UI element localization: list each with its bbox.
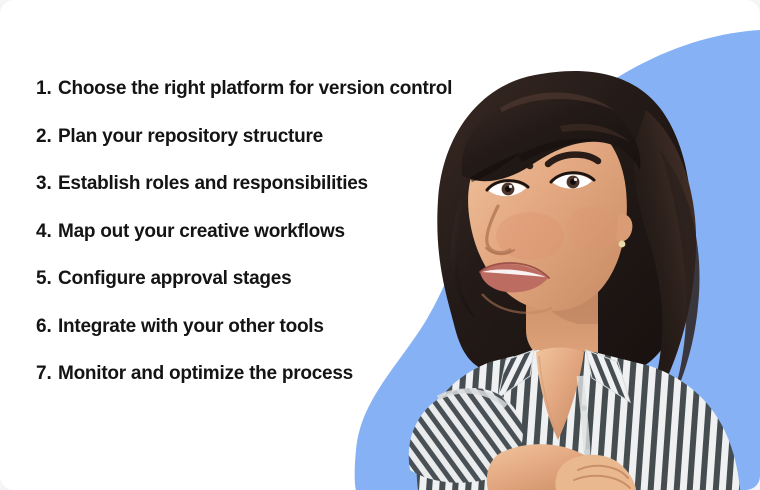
- fringe-wisp-2: [518, 139, 598, 162]
- list-item-label: Map out your creative workflows: [58, 221, 345, 243]
- list-item-number: 1.: [36, 78, 58, 100]
- neck: [526, 262, 598, 366]
- list-item[interactable]: 2. Plan your repository structure: [36, 126, 466, 174]
- shirt-placket: [580, 376, 588, 490]
- list-item-label: Configure approval stages: [58, 268, 291, 290]
- eye-right-pupil: [570, 179, 576, 185]
- hair-top-highlight: [500, 92, 614, 112]
- neck-shadow: [528, 262, 598, 324]
- list-item-label: Choose the right platform for version co…: [58, 78, 452, 100]
- finger-line-2: [574, 476, 630, 488]
- finger-line-1: [578, 466, 628, 478]
- eye-right-iris: [567, 176, 580, 189]
- list-item-number: 5.: [36, 268, 58, 290]
- eyebrow-right: [548, 155, 598, 164]
- eye-left-iris: [502, 183, 515, 196]
- eyelash-left: [487, 181, 528, 190]
- list-item-label: Integrate with your other tools: [58, 316, 324, 338]
- fringe-wisp-1: [470, 152, 522, 182]
- eyebrow-left: [482, 161, 530, 172]
- eye-left-white: [488, 182, 526, 196]
- face: [468, 118, 627, 311]
- list-item-number: 6.: [36, 316, 58, 338]
- list-item[interactable]: 1. Choose the right platform for version…: [36, 78, 466, 126]
- shirt-button-1: [581, 405, 587, 411]
- hand-upper: [555, 455, 636, 490]
- earring: [619, 241, 626, 248]
- nose: [487, 206, 510, 253]
- eye-left-catchlight: [509, 185, 512, 188]
- hair-back: [437, 71, 691, 372]
- fringe-highlight: [560, 124, 630, 142]
- list-item[interactable]: 6. Integrate with your other tools: [36, 316, 466, 364]
- list-item[interactable]: 4. Map out your creative workflows: [36, 221, 466, 269]
- cheek-blush-2: [566, 206, 618, 250]
- collar-left: [498, 350, 534, 398]
- ear: [616, 214, 632, 242]
- list-item-number: 3.: [36, 173, 58, 195]
- chest-shadow: [538, 356, 560, 442]
- chest-skin: [536, 348, 584, 441]
- list-item-number: 2.: [36, 126, 58, 148]
- chin-shadow: [482, 294, 552, 313]
- shirt-button-2: [584, 449, 590, 455]
- bangs: [461, 93, 640, 181]
- hair-right-strand: [634, 110, 696, 424]
- checklist-card: 1. Choose the right platform for version…: [0, 0, 760, 490]
- nostril-line: [486, 248, 514, 254]
- list-item[interactable]: 5. Configure approval stages: [36, 268, 466, 316]
- hair-right-strand-2: [660, 150, 699, 406]
- eye-right-catchlight: [574, 178, 577, 181]
- cheek-blush: [496, 212, 564, 260]
- version-control-checklist: 1. Choose the right platform for version…: [36, 78, 466, 411]
- teeth: [482, 269, 546, 277]
- eyelash-right: [551, 173, 594, 182]
- collar-right: [586, 350, 630, 402]
- list-item-label: Plan your repository structure: [58, 126, 323, 148]
- list-item[interactable]: 3. Establish roles and responsibilities: [36, 173, 466, 221]
- mouth: [480, 264, 548, 292]
- list-item-number: 7.: [36, 363, 58, 385]
- list-item-number: 4.: [36, 221, 58, 243]
- eye-right-white: [552, 174, 592, 188]
- list-item[interactable]: 7. Monitor and optimize the process: [36, 363, 466, 411]
- list-item-label: Monitor and optimize the process: [58, 363, 353, 385]
- list-item-label: Establish roles and responsibilities: [58, 173, 368, 195]
- forearm: [487, 444, 622, 490]
- upper-lip-line: [480, 263, 549, 278]
- eye-left-pupil: [505, 186, 511, 192]
